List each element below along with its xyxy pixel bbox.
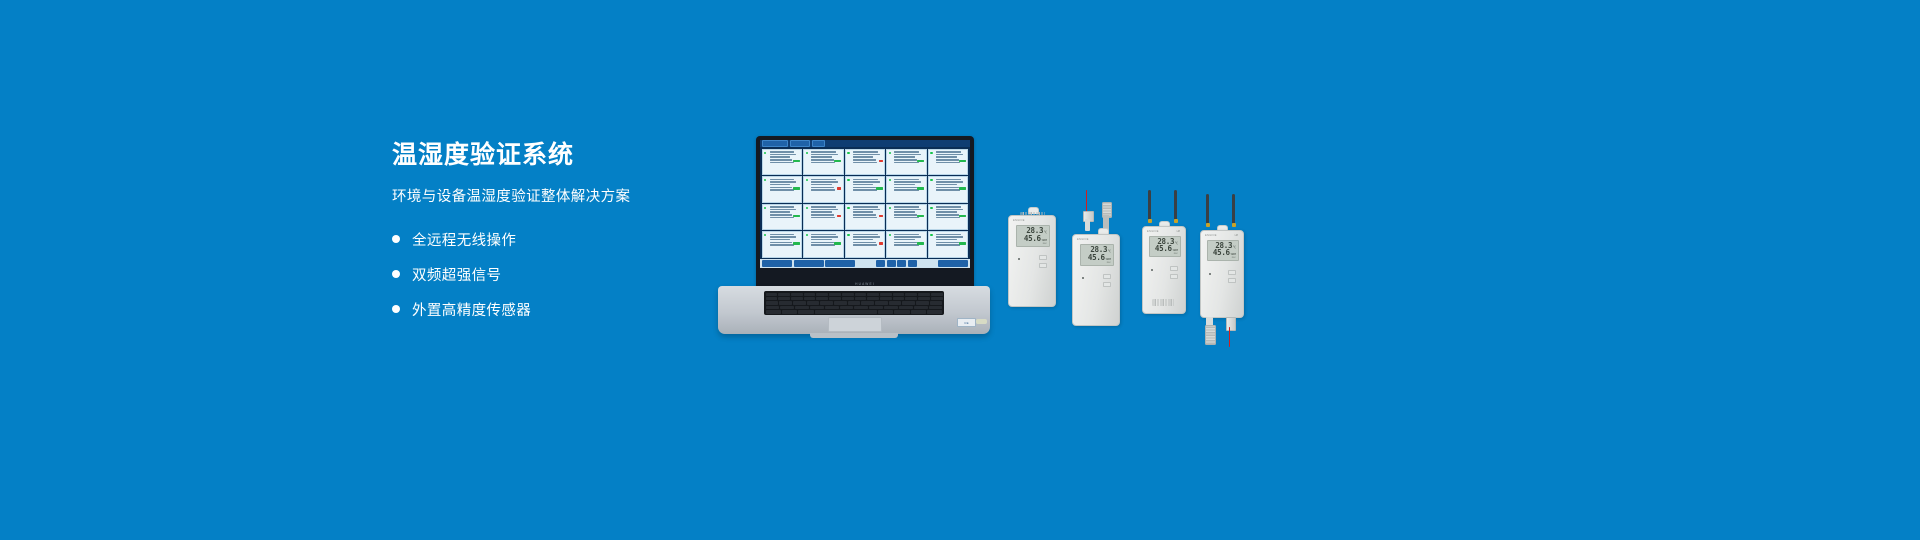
sensor-card[interactable]: [762, 176, 803, 203]
key: [902, 301, 915, 304]
card-line: [811, 214, 834, 216]
key: [842, 297, 854, 300]
card-line: [853, 206, 878, 208]
card-line: [811, 234, 836, 236]
key: [878, 310, 893, 313]
status-led-icon: [764, 207, 766, 209]
key: [916, 301, 929, 304]
key: [884, 306, 898, 309]
key: [816, 297, 828, 300]
card-line: [811, 187, 834, 189]
lcd-humidity-row: 45.6 %RH: [1083, 254, 1111, 262]
indicator-led-icon: [1151, 269, 1153, 271]
card-line: [853, 181, 880, 183]
card-line: [936, 242, 959, 244]
key: [927, 310, 942, 313]
promo-banner: 温湿度验证系统 环境与设备温湿度验证整体解决方案 全远程无线操作 双频超强信号 …: [0, 0, 1920, 540]
sensor-card[interactable]: [803, 231, 844, 258]
card-line: [894, 242, 917, 244]
card-line: [811, 184, 832, 186]
key: [795, 306, 809, 309]
card-line: [936, 162, 960, 164]
card-line: [811, 209, 838, 211]
card-line: [936, 159, 959, 161]
sensor-card[interactable]: [845, 176, 886, 203]
status-badge: [959, 242, 966, 245]
sensor-card[interactable]: [886, 231, 927, 258]
key: [791, 293, 803, 296]
device-button-down[interactable]: [1170, 274, 1178, 279]
key: [804, 297, 816, 300]
device-product-images: ENGINE 28.3 ℃ 45.6 %RH REC: [1000, 190, 1230, 320]
card-line: [894, 156, 915, 158]
toolbar-button-device-list[interactable]: [762, 140, 788, 147]
sensor-grille: [1152, 299, 1174, 306]
probe-cable-red: [1229, 327, 1230, 347]
pagination-first[interactable]: [876, 260, 885, 267]
card-line: [936, 217, 960, 219]
key: [855, 293, 867, 296]
card-line: [811, 156, 832, 158]
status-badge: [793, 215, 800, 218]
card-line: [770, 162, 794, 164]
feature-item-2: 外置高精度传感器: [392, 299, 722, 320]
status-led-icon: [806, 152, 808, 154]
laptop-base: CE: [718, 286, 990, 334]
card-line: [811, 154, 838, 156]
card-line: [811, 181, 838, 183]
key: [931, 293, 943, 296]
indicator-led-icon: [1082, 277, 1084, 279]
status-led-icon: [764, 234, 766, 236]
card-line: [770, 154, 797, 156]
pagination-next[interactable]: [897, 260, 906, 267]
status-led-icon: [930, 179, 932, 181]
key: [930, 301, 943, 304]
status-badge: [793, 242, 800, 245]
device-brand-label: ENGINE: [1205, 234, 1217, 237]
card-line: [853, 162, 877, 164]
card-line: [853, 244, 877, 246]
status-badge: [793, 187, 800, 190]
device-button-down[interactable]: [1039, 263, 1047, 268]
toolbar-button-history-query[interactable]: [790, 140, 810, 147]
card-line: [770, 234, 795, 236]
lcd-humidity-value: 45.6: [1155, 245, 1172, 253]
card-line: [811, 244, 835, 246]
device-lcd-display: 28.3 ℃ 45.6 %RH REC: [1207, 240, 1239, 261]
sensor-card[interactable]: [886, 204, 927, 231]
device-button-up[interactable]: [1228, 270, 1236, 275]
laptop-screen: [760, 140, 970, 268]
antenna-base-right: [1232, 223, 1236, 227]
laptop-trackpad[interactable]: [828, 317, 882, 332]
feature-item-1: 双频超强信号: [392, 264, 722, 285]
card-line: [853, 184, 874, 186]
lcd-humidity-unit: %RH: [1231, 253, 1236, 256]
sensor-card[interactable]: [803, 204, 844, 231]
card-line: [936, 181, 963, 183]
bottom-button-exit[interactable]: [938, 260, 968, 267]
key: [766, 310, 781, 313]
card-line: [853, 239, 874, 241]
card-line: [936, 239, 957, 241]
key: [840, 306, 854, 309]
device-model-label: H8: [1177, 230, 1180, 233]
card-line: [770, 156, 791, 158]
key: [918, 293, 930, 296]
card-line: [770, 217, 794, 219]
sticker-label: CE: [964, 321, 969, 325]
status-led-icon: [847, 207, 849, 209]
key: [855, 297, 867, 300]
card-line: [811, 159, 834, 161]
status-led-icon: [889, 207, 891, 209]
bullet-dot-icon: [392, 270, 400, 278]
key: [842, 293, 854, 296]
sensor-card[interactable]: [803, 176, 844, 203]
card-line: [894, 181, 921, 183]
dashboard-bottom-toolbar: [760, 259, 970, 268]
card-line: [770, 244, 794, 246]
card-line: [811, 151, 836, 153]
dashboard-card-grid: [760, 147, 970, 259]
key: [861, 301, 874, 304]
card-line: [853, 217, 877, 219]
device-4: ENGINE H8 28.3 ℃ 45.6 %RH REC: [1200, 194, 1244, 318]
device-model-label: H8: [1235, 234, 1238, 237]
card-line: [853, 236, 880, 238]
card-line: [894, 154, 921, 156]
device-button-down[interactable]: [1228, 278, 1236, 283]
key: [798, 310, 813, 313]
card-line: [936, 209, 963, 211]
card-line: [853, 234, 878, 236]
card-line: [770, 189, 794, 191]
key-row: [766, 306, 943, 309]
sensor-card[interactable]: [886, 149, 927, 176]
sensor-card[interactable]: [803, 149, 844, 176]
status-led-icon: [806, 207, 808, 209]
probe-stem: [1085, 219, 1090, 231]
card-line: [770, 211, 791, 213]
card-line: [894, 209, 921, 211]
pagination-prev[interactable]: [887, 260, 896, 267]
antenna-left-icon: [1148, 190, 1151, 220]
key: [893, 297, 905, 300]
device-brand-label: ENGINE: [1147, 230, 1159, 233]
laptop-sticker: CE: [957, 318, 976, 327]
card-line: [770, 159, 793, 161]
device-2: ENGINE 28.3 ℃ 45.6 %RH REC: [1072, 204, 1120, 326]
status-led-icon: [847, 152, 849, 154]
key: [899, 306, 913, 309]
status-badge: [917, 187, 924, 190]
pagination-last[interactable]: [908, 260, 917, 267]
card-line: [894, 211, 915, 213]
key-row: [766, 310, 943, 313]
card-line: [811, 236, 838, 238]
device-brand-label: ENGINE: [1013, 219, 1025, 222]
status-led-icon: [889, 152, 891, 154]
card-line: [936, 214, 959, 216]
feature-label: 外置高精度传感器: [412, 299, 531, 320]
card-line: [811, 242, 834, 244]
card-line: [853, 151, 878, 153]
key: [766, 301, 779, 304]
status-led-icon: [806, 179, 808, 181]
lcd-humidity-value: 45.6: [1088, 254, 1105, 262]
card-line: [894, 236, 921, 238]
bottom-button-settings[interactable]: [825, 260, 855, 267]
device-body: ENGINE 28.3 ℃ 45.6 %RH REC: [1008, 215, 1056, 307]
status-led-icon: [889, 234, 891, 236]
sensor-card[interactable]: [845, 204, 886, 231]
status-led-icon: [889, 179, 891, 181]
key: [905, 297, 917, 300]
sensor-card[interactable]: [762, 231, 803, 258]
antenna-right-icon: [1232, 194, 1235, 224]
indicator-led-icon: [1209, 273, 1211, 275]
card-line: [770, 236, 797, 238]
indicator-led-icon: [1018, 258, 1020, 260]
key: [816, 293, 828, 296]
card-line: [811, 162, 835, 164]
key: [820, 301, 833, 304]
feature-item-0: 全远程无线操作: [392, 229, 722, 250]
card-line: [853, 242, 876, 244]
key: [782, 310, 797, 313]
page-subtitle: 环境与设备温湿度验证整体解决方案: [392, 188, 722, 207]
lcd-footer-label: REC: [1019, 243, 1047, 245]
device-lcd-display: 28.3 ℃ 45.6 %RH REC: [1080, 244, 1114, 266]
card-line: [811, 211, 832, 213]
card-line: [770, 181, 797, 183]
card-line: [811, 217, 835, 219]
status-badge: [917, 215, 924, 218]
status-badge: [879, 242, 883, 245]
card-line: [853, 187, 876, 189]
status-badge: [837, 215, 841, 218]
key: [791, 297, 803, 300]
sensor-card[interactable]: [928, 176, 969, 203]
status-led-icon: [930, 207, 932, 209]
card-line: [853, 189, 877, 191]
card-line: [811, 189, 835, 191]
card-line: [811, 206, 836, 208]
key: [869, 306, 883, 309]
antenna-right-icon: [1174, 190, 1177, 220]
card-line: [936, 184, 957, 186]
antenna-left-icon: [1206, 194, 1209, 224]
key: [854, 306, 868, 309]
key: [867, 293, 879, 296]
card-line: [894, 244, 918, 246]
laptop-product-image: HUAWEI C: [718, 136, 990, 300]
key: [834, 301, 847, 304]
status-badge: [917, 242, 924, 245]
status-badge: [879, 215, 883, 218]
status-badge: [837, 187, 841, 190]
status-led-icon: [847, 234, 849, 236]
card-line: [811, 179, 836, 181]
card-line: [770, 179, 795, 181]
bullet-dot-icon: [392, 305, 400, 313]
page-title: 温湿度验证系统: [392, 140, 722, 170]
key: [829, 293, 841, 296]
key: [929, 306, 943, 309]
card-line: [853, 156, 874, 158]
key: [893, 293, 905, 296]
card-line: [894, 217, 918, 219]
bullet-dot-icon: [392, 235, 400, 243]
status-badge: [959, 187, 966, 190]
sensor-card[interactable]: [845, 231, 886, 258]
status-badge: [959, 160, 966, 163]
device-button-up[interactable]: [1039, 255, 1047, 260]
sensor-card[interactable]: [928, 231, 969, 258]
toolbar-button-alarm[interactable]: [812, 140, 825, 147]
key: [905, 293, 917, 296]
key: [931, 297, 943, 300]
key: [848, 301, 861, 304]
key: [778, 297, 790, 300]
sensor-card[interactable]: [886, 176, 927, 203]
card-line: [894, 234, 919, 236]
status-led-icon: [764, 179, 766, 181]
key-row: [766, 301, 943, 304]
key: [880, 293, 892, 296]
status-badge: [793, 160, 800, 163]
status-badge: [834, 160, 841, 163]
antenna-base-right: [1174, 219, 1178, 223]
lcd-footer-label: REC: [1210, 257, 1236, 259]
dashboard-toolbar: [760, 140, 970, 147]
key: [867, 297, 879, 300]
card-line: [936, 206, 961, 208]
device-button-down[interactable]: [1103, 282, 1111, 287]
device-body: ENGINE H8 28.3 ℃ 45.6 %RH REC: [1142, 226, 1186, 314]
sensor-card[interactable]: [845, 149, 886, 176]
lcd-humidity-value: 45.6: [1213, 249, 1230, 257]
card-line: [894, 189, 918, 191]
lcd-humidity-row: 45.6 %RH: [1152, 245, 1178, 253]
key: [804, 293, 816, 296]
key-row: [766, 293, 943, 296]
card-line: [853, 214, 876, 216]
card-line: [936, 211, 957, 213]
status-badge: [879, 160, 883, 163]
device-3: ENGINE H8 28.3 ℃ 45.6 %RH REC: [1142, 190, 1186, 314]
spacebar-key: [815, 310, 877, 313]
sensor-card[interactable]: [762, 204, 803, 231]
status-led-icon: [806, 234, 808, 236]
card-line: [894, 214, 917, 216]
key: [825, 306, 839, 309]
bottom-button-export[interactable]: [794, 260, 824, 267]
card-line: [894, 162, 918, 164]
status-badge: [959, 215, 966, 218]
device-lcd-display: 28.3 ℃ 45.6 %RH REC: [1149, 236, 1181, 257]
card-line: [936, 154, 963, 156]
card-line: [853, 159, 876, 161]
status-badge: [834, 242, 841, 245]
banner-copy: 温湿度验证系统 环境与设备温湿度验证整体解决方案 全远程无线操作 双频超强信号 …: [392, 140, 722, 334]
sensor-card[interactable]: [928, 149, 969, 176]
card-line: [853, 211, 874, 213]
laptop-lid: HUAWEI: [756, 136, 974, 288]
device-button-up[interactable]: [1170, 266, 1178, 271]
status-led-icon: [764, 152, 766, 154]
card-line: [936, 234, 961, 236]
key: [810, 306, 824, 309]
device-body: ENGINE H8 28.3 ℃ 45.6 %RH REC: [1200, 230, 1244, 318]
lcd-footer-label: REC: [1083, 262, 1111, 264]
key: [780, 306, 794, 309]
card-line: [936, 236, 963, 238]
probe-cable-red: [1086, 190, 1087, 212]
key: [880, 297, 892, 300]
device-button-up[interactable]: [1103, 274, 1111, 279]
lcd-humidity-unit: %RH: [1173, 249, 1178, 252]
device-lcd-display: 28.3 ℃ 45.6 %RH REC: [1016, 225, 1050, 247]
key: [793, 301, 806, 304]
lcd-footer-label: REC: [1152, 253, 1178, 255]
lcd-humidity-value: 45.6: [1024, 235, 1041, 243]
probe-sensor-cap: [1205, 325, 1216, 345]
feature-label: 全远程无线操作: [412, 229, 516, 250]
sensor-card[interactable]: [762, 149, 803, 176]
card-line: [894, 187, 917, 189]
card-line: [770, 206, 795, 208]
card-line: [894, 151, 919, 153]
card-line: [894, 206, 919, 208]
key: [918, 297, 930, 300]
laptop-sticker-secondary: [976, 319, 987, 324]
key: [829, 297, 841, 300]
card-line: [894, 239, 915, 241]
device-brand-label: ENGINE: [1077, 238, 1089, 241]
key: [889, 301, 902, 304]
laptop-keyboard[interactable]: [764, 291, 944, 315]
lcd-humidity-unit: %RH: [1106, 258, 1111, 261]
card-line: [936, 189, 960, 191]
card-line: [936, 156, 957, 158]
status-led-icon: [930, 152, 932, 154]
card-line: [936, 244, 960, 246]
bottom-button-refresh[interactable]: [762, 260, 792, 267]
card-line: [936, 179, 961, 181]
card-line: [770, 187, 793, 189]
card-line: [770, 239, 791, 241]
card-line: [770, 151, 795, 153]
probe-connector: [1226, 317, 1236, 331]
card-line: [770, 242, 793, 244]
key: [911, 310, 926, 313]
lcd-humidity-unit: %RH: [1042, 239, 1047, 242]
card-line: [894, 179, 919, 181]
status-led-icon: [847, 179, 849, 181]
sensor-card[interactable]: [928, 204, 969, 231]
laptop-base-foot: [810, 333, 898, 338]
card-line: [770, 209, 797, 211]
card-line: [853, 209, 880, 211]
device-body: ENGINE 28.3 ℃ 45.6 %RH REC: [1072, 234, 1120, 326]
card-line: [936, 187, 959, 189]
antenna-base-left: [1206, 223, 1210, 227]
status-badge: [876, 187, 883, 190]
key: [779, 301, 792, 304]
